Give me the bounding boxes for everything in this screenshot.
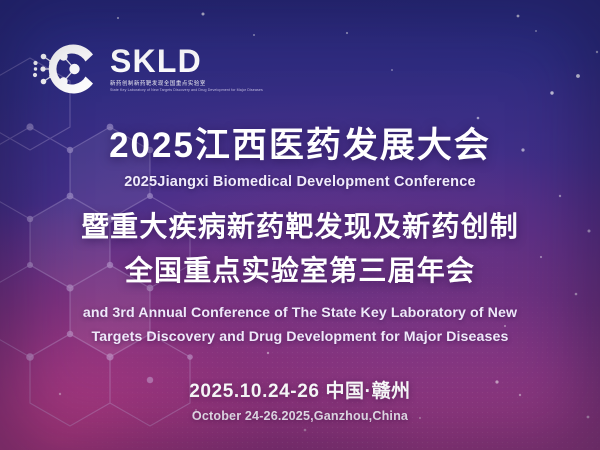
poster-content: 2025江西医药发展大会 2025Jiangxi Biomedical Deve… <box>0 124 600 348</box>
poster-subtitle-cn-line1: 暨重大疾病新药靶发现及新药创制 <box>0 206 600 247</box>
logo-subtitle-cn: 新药创制新药靶发现全国重点实验室 <box>110 80 263 88</box>
logo-subtitle-en: State Key Laboratory of New Targets Disc… <box>110 88 263 93</box>
poster-subtitle-cn-line2: 全国重点实验室第三届年会 <box>0 250 600 291</box>
event-date-cn: 2025.10.24-26 中国·赣州 <box>0 376 600 403</box>
poster-subtitle-en-line1: and 3rd Annual Conference of The State K… <box>0 302 600 324</box>
poster-title-en: 2025Jiangxi Biomedical Development Confe… <box>0 174 600 190</box>
poster-title-cn: 2025江西医药发展大会 <box>0 124 600 167</box>
molecular-c-logo-icon <box>30 36 104 102</box>
poster-footer: 2025.10.24-26 中国·赣州 October 24-26.2025,G… <box>0 376 600 423</box>
logo-wordmark: SKLD <box>110 45 263 77</box>
skld-logo: SKLD 新药创制新药靶发现全国重点实验室 State Key Laborato… <box>30 36 263 102</box>
conference-poster: SKLD 新药创制新药靶发现全国重点实验室 State Key Laborato… <box>0 0 600 450</box>
logo-text-block: SKLD 新药创制新药靶发现全国重点实验室 State Key Laborato… <box>110 45 263 93</box>
event-date-en: October 24-26.2025,Ganzhou,China <box>0 409 600 423</box>
poster-subtitle-en-line2: Targets Discovery and Drug Development f… <box>0 326 600 348</box>
